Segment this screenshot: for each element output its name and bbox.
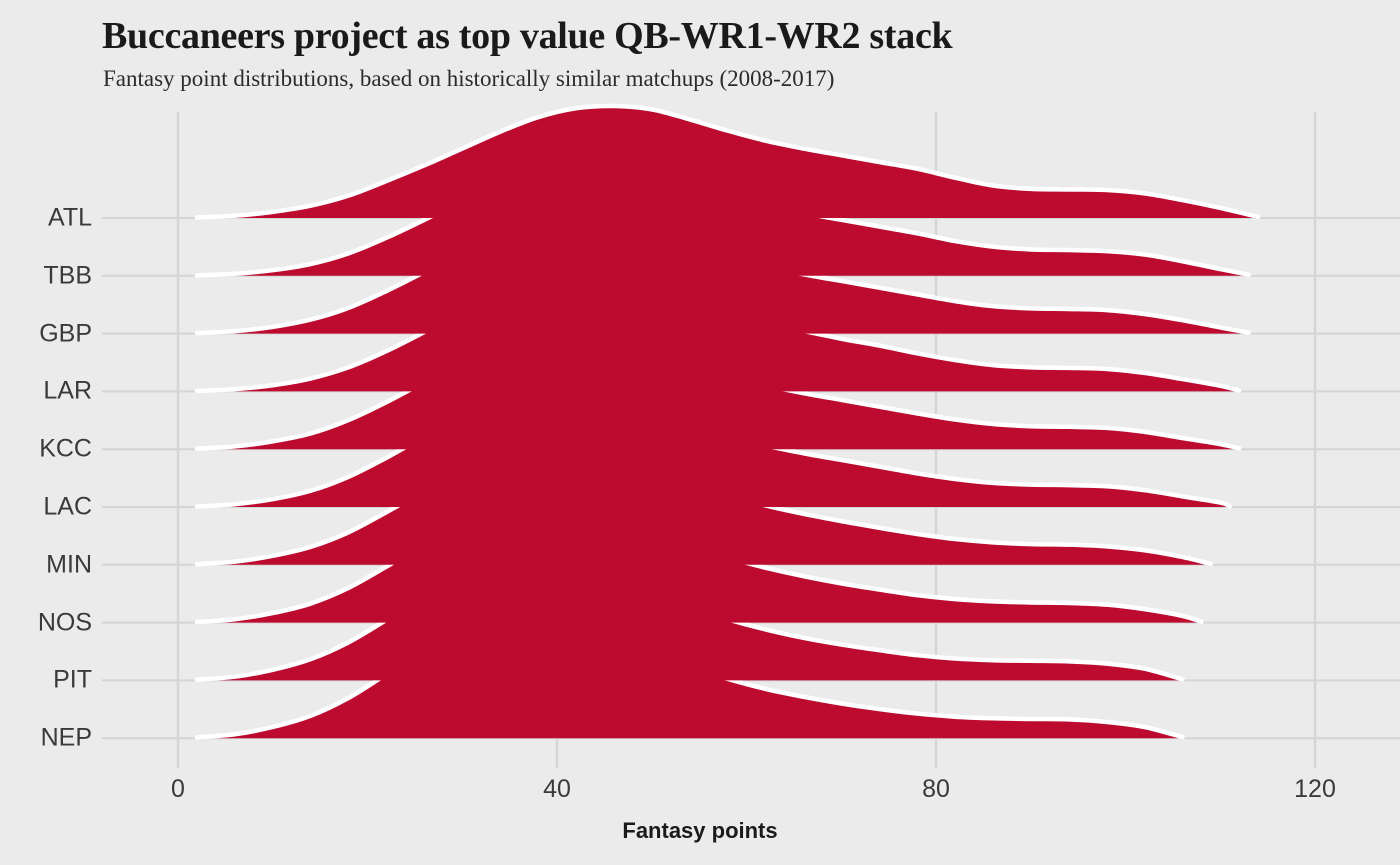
y-tick-label-NOS: NOS [6,608,92,637]
y-tick-label-NEP: NEP [6,724,92,753]
y-tick-label-LAC: LAC [6,493,92,522]
y-tick-label-GBP: GBP [6,319,92,348]
y-tick-label-ATL: ATL [6,204,92,233]
ridge-ATL [197,106,1258,218]
y-tick-label-TBB: TBB [6,261,92,290]
x-tick-label-120: 120 [1294,775,1336,804]
x-tick-label-40: 40 [543,775,571,804]
x-axis-title: Fantasy points [0,818,1400,844]
x-tick-label-80: 80 [922,775,950,804]
plot-area [0,0,1400,865]
y-tick-label-KCC: KCC [6,435,92,464]
y-tick-label-LAR: LAR [6,377,92,406]
y-tick-label-MIN: MIN [6,550,92,579]
ridge-fill-ATL [197,106,1258,218]
x-tick-label-0: 0 [171,775,185,804]
y-tick-label-PIT: PIT [6,666,92,695]
ridgeline-chart: Buccaneers project as top value QB-WR1-W… [0,0,1400,865]
